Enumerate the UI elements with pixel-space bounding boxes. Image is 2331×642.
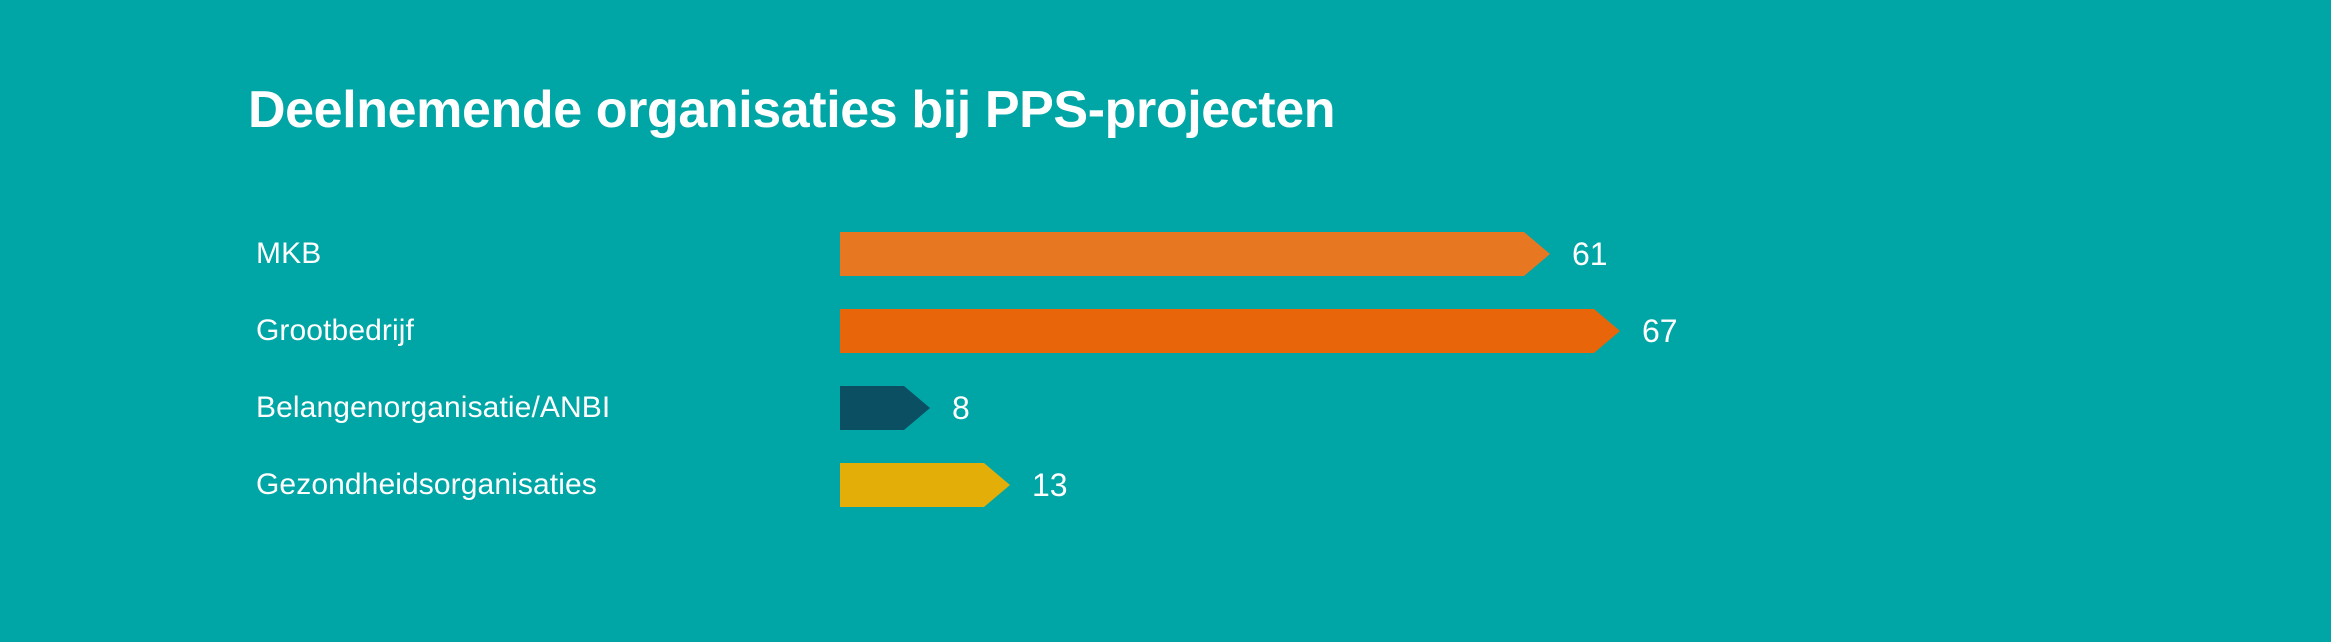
bar-value-label: 13 [1032,463,1068,507]
bar-track: 61 [840,232,1608,276]
bar-shape-belangenorganisatie-anbi [840,386,930,430]
bar-row: MKB 61 [0,215,2331,292]
bar-row: Gezondheidsorganisaties 13 [0,446,2331,523]
bar-shape-gezondheidsorganisaties [840,463,1010,507]
bar-track: 8 [840,386,970,430]
bar-track: 67 [840,309,1678,353]
bar-category-label: Grootbedrijf [256,314,414,348]
bar-shape-mkb [840,232,1550,276]
bar-shape-grootbedrijf [840,309,1620,353]
bar-category-label: MKB [256,237,321,271]
bar-row: Grootbedrijf 67 [0,292,2331,369]
bar-row: Belangenorganisatie/ANBI 8 [0,369,2331,446]
bar-value-label: 61 [1572,232,1608,276]
bar-value-label: 8 [952,386,970,430]
bar-chart-plot-area: MKB 61 Grootbedrijf 67 Belangenorganisat… [0,215,2331,523]
bar-category-label: Belangenorganisatie/ANBI [256,391,610,425]
chart-container: Deelnemende organisaties bij PPS-project… [0,0,2331,642]
bar-track: 13 [840,463,1068,507]
chart-title: Deelnemende organisaties bij PPS-project… [248,82,1335,139]
bar-category-label: Gezondheidsorganisaties [256,468,597,502]
bar-value-label: 67 [1642,309,1678,353]
